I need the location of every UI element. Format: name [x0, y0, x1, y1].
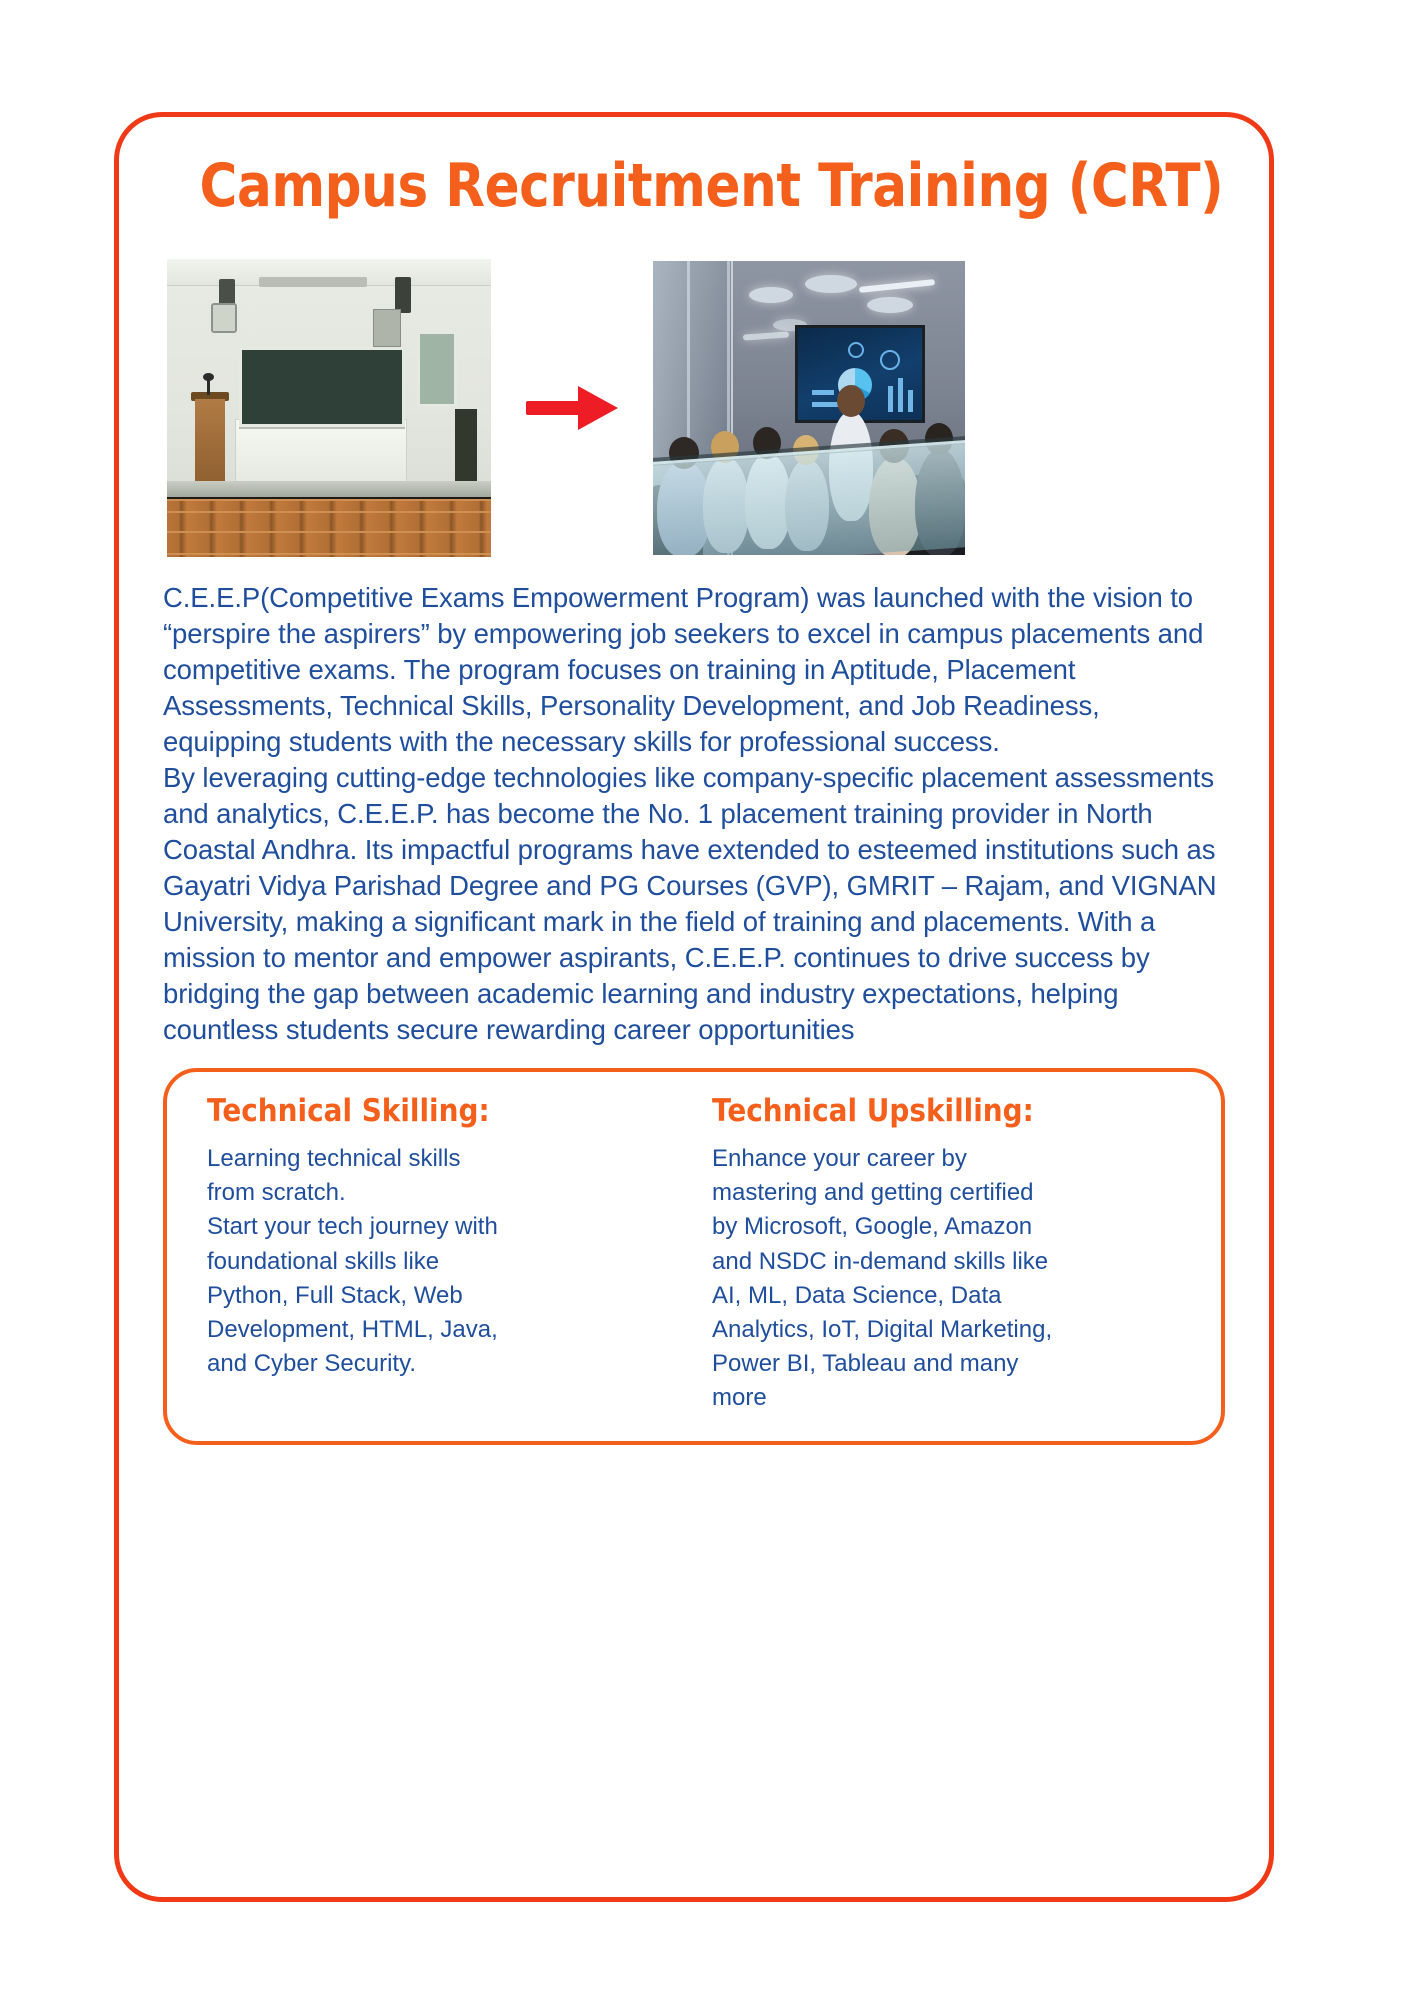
skill-line: mastering and getting certified [712, 1176, 1213, 1210]
skill-line: Development, HTML, Java, [207, 1313, 686, 1347]
technical-upskilling-heading: Technical Upskilling: [712, 1094, 1163, 1128]
image-row [119, 258, 1269, 558]
skill-line: from scratch. [207, 1176, 686, 1210]
technical-skilling-body: Learning technical skills from scratch. … [207, 1142, 686, 1381]
lecture-hall-image [167, 259, 491, 557]
technical-upskilling-body: Enhance your career by mastering and get… [712, 1142, 1213, 1415]
skill-line: Analytics, IoT, Digital Marketing, [712, 1313, 1213, 1347]
skill-line: foundational skills like [207, 1245, 686, 1279]
poster-card: Campus Recruitment Training (CRT) [114, 112, 1274, 1902]
skill-line: Python, Full Stack, Web [207, 1279, 686, 1313]
body-copy: C.E.E.P(Competitive Exams Empowerment Pr… [119, 580, 1269, 1048]
skill-line: Start your tech journey with [207, 1210, 686, 1244]
skill-line: and NSDC in-demand skills like [712, 1245, 1213, 1279]
skill-line: AI, ML, Data Science, Data [712, 1279, 1213, 1313]
arrow-container [491, 380, 653, 436]
skill-line: Power BI, Tableau and many [712, 1347, 1213, 1381]
technical-skilling-heading: Technical Skilling: [207, 1094, 638, 1128]
page-title: Campus Recruitment Training (CRT) [200, 117, 1189, 218]
skill-column-technical-skilling: Technical Skilling: Learning technical s… [167, 1094, 694, 1415]
skill-column-technical-upskilling: Technical Upskilling: Enhance your caree… [694, 1094, 1221, 1415]
paragraph-2: By leveraging cutting-edge technologies … [163, 760, 1225, 1048]
skill-line: more [712, 1381, 1213, 1415]
skill-line: by Microsoft, Google, Amazon [712, 1210, 1213, 1244]
skill-line: Enhance your career by [712, 1142, 1213, 1176]
right-arrow-icon [524, 380, 620, 436]
skill-line: Learning technical skills [207, 1142, 686, 1176]
skill-line: and Cyber Security. [207, 1347, 686, 1381]
meeting-room-image [653, 261, 965, 555]
paragraph-1: C.E.E.P(Competitive Exams Empowerment Pr… [163, 580, 1225, 760]
skill-box: Technical Skilling: Learning technical s… [163, 1068, 1225, 1445]
